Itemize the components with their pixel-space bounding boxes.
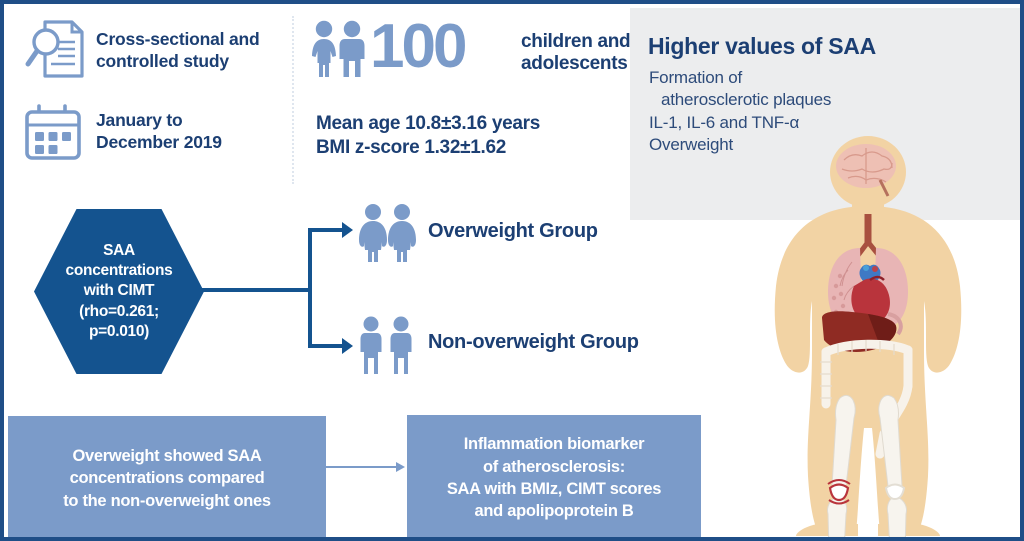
overweight-finding-line-1: Overweight showed SAA bbox=[63, 445, 271, 467]
connector-branch-top bbox=[308, 228, 344, 232]
participant-count: 100 bbox=[370, 17, 464, 77]
study-period-line-1: January to bbox=[96, 110, 281, 132]
divider-left-middle bbox=[292, 16, 294, 184]
arrow-head-top-icon bbox=[342, 222, 353, 238]
bullet-1-line-1: IL-1, IL-6 and TNF-α bbox=[649, 113, 799, 132]
study-period-label: January to December 2019 bbox=[96, 110, 281, 154]
connector-vertical bbox=[308, 228, 312, 348]
calendar-icon bbox=[22, 101, 84, 163]
study-type-line-1: Cross-sectional and bbox=[96, 29, 281, 51]
hexagon-text: SAA concentrations with CIMT (rho=0.261;… bbox=[66, 241, 173, 342]
bullet-2-line-1: Overweight bbox=[649, 135, 733, 154]
document-magnifier-icon bbox=[22, 16, 88, 82]
hexagon-line-4: (rho=0.261; bbox=[66, 302, 173, 322]
overweight-finding-panel: Overweight showed SAA concentrations com… bbox=[8, 416, 326, 541]
overweight-finding-text: Overweight showed SAA concentrations com… bbox=[63, 445, 271, 512]
two-overweight-people-icon bbox=[356, 202, 420, 264]
bullet-0-line-2: atherosclerotic plaques bbox=[649, 89, 979, 111]
inflammation-line-2: of atherosclerosis: bbox=[447, 456, 661, 478]
study-type-label: Cross-sectional and controlled study bbox=[96, 29, 281, 73]
inflammation-line-4: and apolipoprotein B bbox=[447, 500, 661, 522]
saa-cimt-hexagon: SAA concentrations with CIMT (rho=0.261;… bbox=[34, 209, 204, 374]
connector-trunk bbox=[200, 288, 310, 292]
infographic-canvas: Cross-sectional and controlled study Jan… bbox=[0, 0, 1024, 541]
arrow-head-bottom-icon bbox=[342, 338, 353, 354]
bottom-arrow-line bbox=[326, 466, 398, 468]
overweight-group-label: Overweight Group bbox=[428, 220, 598, 243]
hexagon-line-3: with CIMT bbox=[66, 281, 173, 301]
hexagon-line-2: concentrations bbox=[66, 261, 173, 281]
cohort-statistics: Mean age 10.8±3.16 years BMI z-score 1.3… bbox=[316, 112, 596, 161]
mean-age-line: Mean age 10.8±3.16 years bbox=[316, 112, 596, 136]
higher-saa-title: Higher values of SAA bbox=[648, 33, 876, 60]
hexagon-line-1: SAA bbox=[66, 241, 173, 261]
bullet-item-0: Formation of atherosclerotic plaques bbox=[649, 67, 979, 112]
inflammation-biomarker-text: Inflammation biomarker of atherosclerosi… bbox=[447, 433, 661, 522]
right-arrow-icon bbox=[396, 462, 405, 472]
inflammation-line-1: Inflammation biomarker bbox=[447, 433, 661, 455]
bmi-zscore-line: BMI z-score 1.32±1.62 bbox=[316, 136, 596, 160]
overweight-finding-line-2: concentrations compared bbox=[63, 467, 271, 489]
two-normal-weight-people-icon bbox=[356, 314, 420, 376]
overweight-finding-line-3: to the non-overweight ones bbox=[63, 490, 271, 512]
connector-branch-bottom bbox=[308, 344, 344, 348]
study-type-line-2: controlled study bbox=[96, 51, 281, 73]
bullet-item-1: IL-1, IL-6 and TNF-α bbox=[649, 112, 979, 134]
bullet-0-line-1: Formation of bbox=[649, 68, 742, 87]
inflammation-line-3: SAA with BMIz, CIMT scores bbox=[447, 478, 661, 500]
obese-human-body-anatomy-illustration bbox=[748, 136, 988, 541]
hexagon-line-5: p=0.010) bbox=[66, 322, 173, 342]
non-overweight-group-label: Non-overweight Group bbox=[428, 331, 639, 354]
inflammation-biomarker-panel: Inflammation biomarker of atherosclerosi… bbox=[407, 415, 701, 541]
two-people-icon bbox=[308, 18, 370, 80]
study-period-line-2: December 2019 bbox=[96, 132, 281, 154]
